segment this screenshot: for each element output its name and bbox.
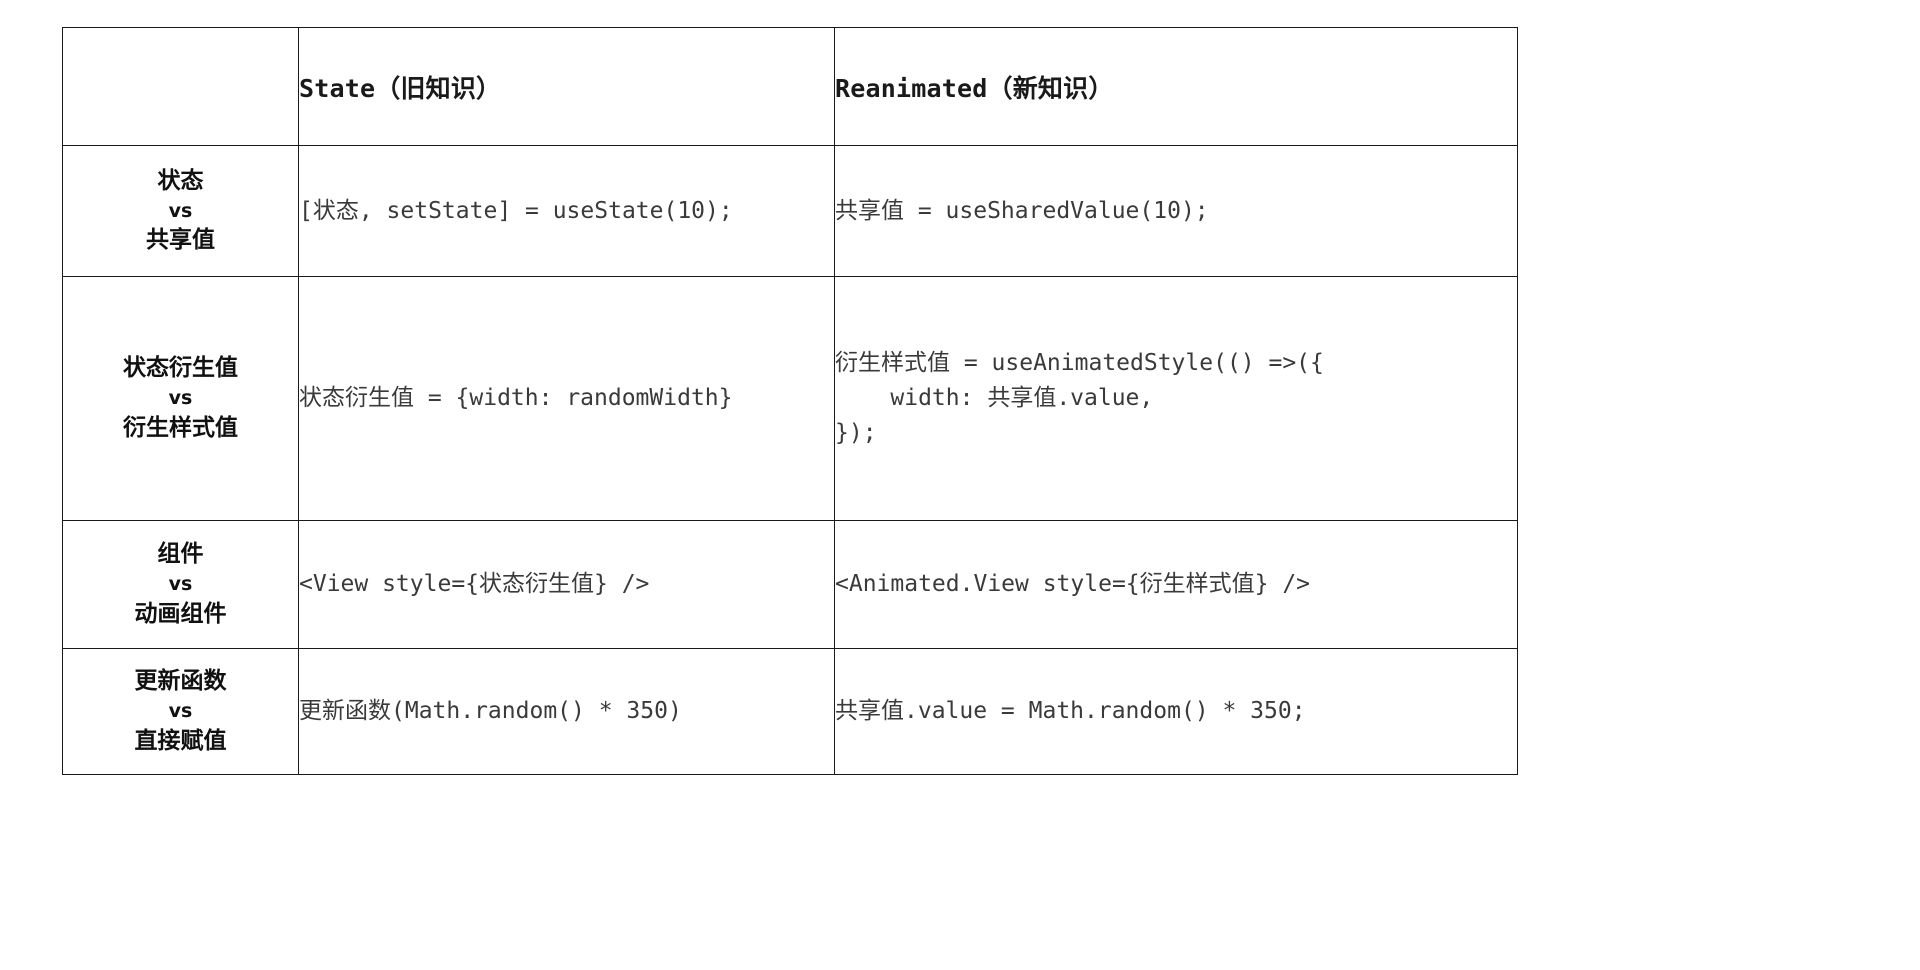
- column-header-state-label: State（旧知识）: [299, 69, 834, 105]
- code-snippet-animated-view: <Animated.View style={衍生样式值} />: [835, 567, 1517, 602]
- table-row-shared-value: 状态 vs 共享值 [状态, setState] = useState(10);…: [63, 146, 1518, 277]
- row-label-term-top: 状态衍生值: [123, 352, 238, 385]
- code-snippet-setstate-call: 更新函数(Math.random() * 350): [299, 694, 834, 729]
- page-root: State（旧知识） Reanimated（新知识） 状态 vs 共享值 [状态…: [0, 0, 1920, 970]
- row-label-term-bottom: 直接赋值: [135, 725, 227, 758]
- state-vs-reanimated-comparison-table: State（旧知识） Reanimated（新知识） 状态 vs 共享值 [状态…: [62, 27, 1518, 775]
- row-label-vs: vs: [169, 571, 193, 598]
- cell-reanimated-shared-value: 共享值 = useSharedValue(10);: [835, 146, 1518, 277]
- cell-state-shared-value: [状态, setState] = useState(10);: [299, 146, 835, 277]
- code-snippet-useanimatedstyle: 衍生样式值 = useAnimatedStyle(() =>({ width: …: [835, 346, 1517, 451]
- row-label-term-top: 状态: [158, 165, 204, 198]
- row-label-vs: vs: [169, 198, 193, 225]
- row-label-term-bottom: 共享值: [146, 224, 215, 257]
- row-label-update-function: 更新函数 vs 直接赋值: [63, 649, 299, 775]
- cell-reanimated-component: <Animated.View style={衍生样式值} />: [835, 521, 1518, 649]
- row-label-derived-value: 状态衍生值 vs 衍生样式值: [63, 277, 299, 521]
- row-label-term-bottom: 衍生样式值: [123, 412, 238, 445]
- table-header-row: State（旧知识） Reanimated（新知识）: [63, 28, 1518, 146]
- code-snippet-usesharedvalue: 共享值 = useSharedValue(10);: [835, 194, 1517, 229]
- code-snippet-state-derived: 状态衍生值 = {width: randomWidth}: [299, 381, 834, 416]
- row-label-term-bottom: 动画组件: [135, 598, 227, 631]
- column-header-reanimated-label: Reanimated（新知识）: [835, 69, 1517, 105]
- row-label-vs: vs: [169, 385, 193, 412]
- cell-reanimated-derived-value: 衍生样式值 = useAnimatedStyle(() =>({ width: …: [835, 277, 1518, 521]
- table-row-update-function: 更新函数 vs 直接赋值 更新函数(Math.random() * 350) 共…: [63, 649, 1518, 775]
- code-snippet-state-usestate: [状态, setState] = useState(10);: [299, 194, 834, 229]
- cell-state-component: <View style={状态衍生值} />: [299, 521, 835, 649]
- code-snippet-view: <View style={状态衍生值} />: [299, 567, 834, 602]
- table-row-component: 组件 vs 动画组件 <View style={状态衍生值} /> <Anima…: [63, 521, 1518, 649]
- cell-state-update-function: 更新函数(Math.random() * 350): [299, 649, 835, 775]
- row-label-shared-value: 状态 vs 共享值: [63, 146, 299, 277]
- cell-state-derived-value: 状态衍生值 = {width: randomWidth}: [299, 277, 835, 521]
- table-corner-cell: [63, 28, 299, 146]
- table-row-derived-value: 状态衍生值 vs 衍生样式值 状态衍生值 = {width: randomWid…: [63, 277, 1518, 521]
- cell-reanimated-update-function: 共享值.value = Math.random() * 350;: [835, 649, 1518, 775]
- column-header-reanimated: Reanimated（新知识）: [835, 28, 1518, 146]
- row-label-vs: vs: [169, 698, 193, 725]
- code-snippet-direct-assignment: 共享值.value = Math.random() * 350;: [835, 694, 1517, 729]
- column-header-state: State（旧知识）: [299, 28, 835, 146]
- row-label-component: 组件 vs 动画组件: [63, 521, 299, 649]
- row-label-term-top: 更新函数: [135, 665, 227, 698]
- row-label-term-top: 组件: [158, 538, 204, 571]
